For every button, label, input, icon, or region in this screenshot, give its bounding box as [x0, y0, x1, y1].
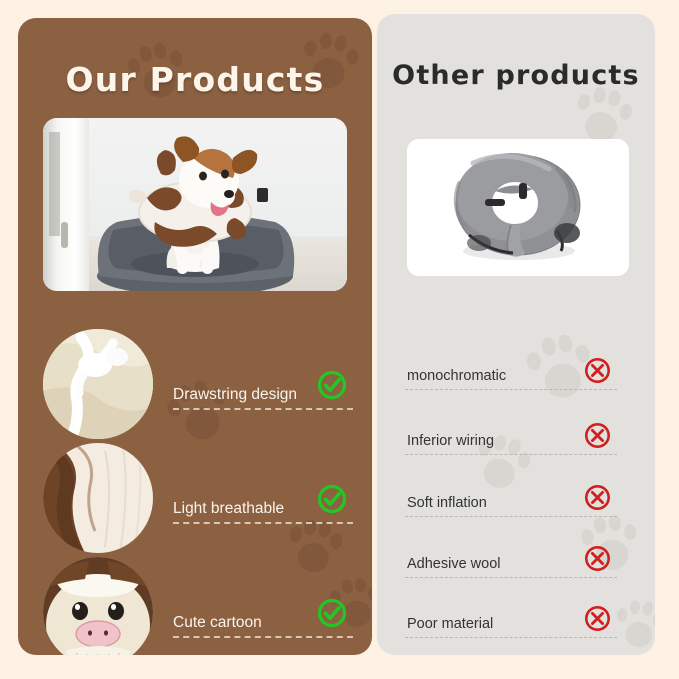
feature-row: Drawstring design — [43, 328, 353, 440]
feature-divider — [173, 636, 353, 638]
con-label: Soft inflation — [407, 495, 487, 511]
paw-print-watermark — [612, 598, 655, 655]
feature-thumbnail-fabric — [43, 443, 153, 553]
con-row: Soft inflation — [405, 471, 617, 529]
red-cross-icon — [584, 422, 611, 449]
con-label: Poor material — [407, 616, 493, 632]
other-products-title: Other products — [377, 60, 655, 91]
our-product-hero-image — [43, 118, 347, 291]
feature-divider — [173, 522, 353, 524]
con-row: Inferior wiring — [405, 409, 617, 467]
con-divider — [405, 516, 617, 517]
con-row: Adhesive wool — [405, 532, 617, 590]
feature-label: Cute cartoon — [173, 614, 262, 632]
our-products-panel: Our Products — [18, 18, 372, 655]
con-label: Adhesive wool — [407, 556, 501, 572]
infographic-canvas: Our Products — [0, 0, 679, 679]
feature-label: Drawstring design — [173, 386, 297, 404]
other-products-panel: Other products — [377, 14, 655, 655]
other-product-hero-image — [407, 139, 629, 276]
feature-label: Light breathable — [173, 500, 284, 518]
con-divider — [405, 454, 617, 455]
con-divider — [405, 389, 617, 390]
feature-body: Drawstring design — [169, 328, 353, 440]
feature-divider — [173, 408, 353, 410]
feature-row: Light breathable — [43, 442, 353, 554]
green-check-icon — [317, 598, 347, 628]
con-label: Inferior wiring — [407, 433, 494, 449]
green-check-icon — [317, 370, 347, 400]
red-cross-icon — [584, 605, 611, 632]
feature-thumbnail-cartoon-face — [43, 557, 153, 655]
red-cross-icon — [584, 545, 611, 572]
con-divider — [405, 637, 617, 638]
con-divider — [405, 577, 617, 578]
con-row: Poor material — [405, 592, 617, 650]
feature-row: Cute cartoon — [43, 556, 353, 655]
red-cross-icon — [584, 484, 611, 511]
con-row: monochromatic — [405, 344, 617, 402]
feature-body: Cute cartoon — [169, 556, 353, 655]
feature-body: Light breathable — [169, 442, 353, 554]
green-check-icon — [317, 484, 347, 514]
red-cross-icon — [584, 357, 611, 384]
feature-thumbnail-drawstring — [43, 329, 153, 439]
our-products-title: Our Products — [18, 60, 372, 99]
con-label: monochromatic — [407, 368, 506, 384]
